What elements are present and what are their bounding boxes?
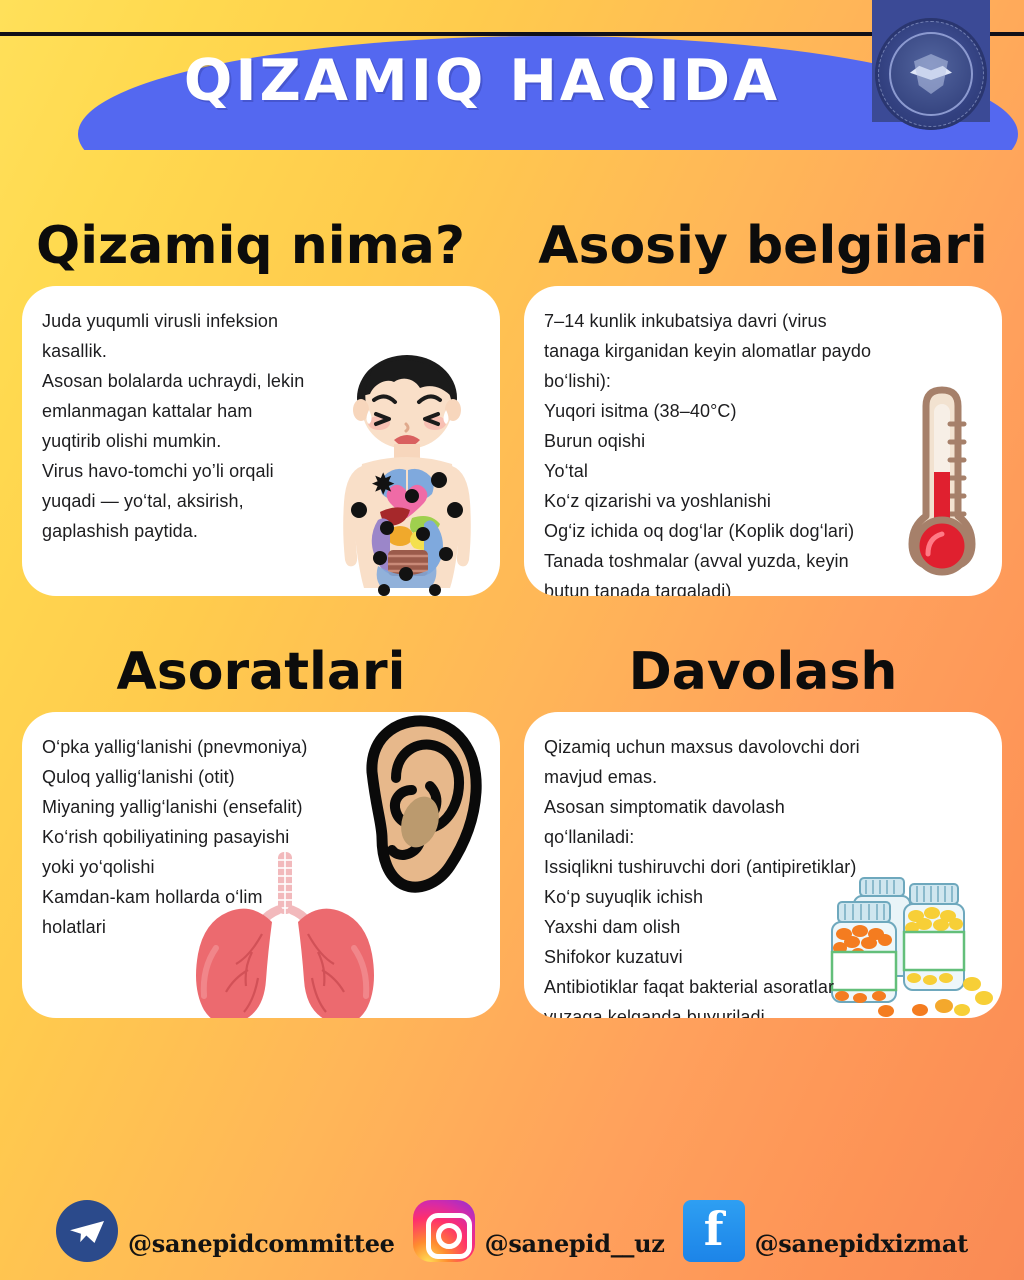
instagram-icon[interactable] [413,1200,475,1262]
card-text-main-symptoms: 7–14 kunlik inkubatsiya davri (virus tan… [544,306,924,596]
text-line: Shifokor kuzatuvi [544,942,929,972]
sick-child-with-organs-illustration [322,352,492,596]
text-line: Ko‘z qizarishi va yoshlanishi [544,486,924,516]
text-line: Burun oqishi [544,426,924,456]
social-instagram[interactable]: @sanepid__uz [413,1200,665,1262]
text-line: holatlari [42,912,352,942]
organization-emblem-icon [875,18,987,130]
text-line: Ko‘p suyuqlik ichish [544,882,929,912]
text-line: kasallik. [42,336,347,366]
emblem-shield-icon [914,54,948,94]
text-line: Qizamiq uchun maxsus davolovchi dori [544,732,929,762]
text-line: mavjud emas. [544,762,929,792]
card-complications: O‘pka yallig‘lanishi (pnevmoniya) Quloq … [22,712,500,1018]
text-line: yuzaga kelganda buyuriladi [544,1002,929,1018]
telegram-icon[interactable] [56,1200,118,1262]
facebook-handle[interactable]: @sanepidxizmat [755,1229,968,1262]
emblem-inner-circle [889,32,973,116]
card-text-treatment: Qizamiq uchun maxsus davolovchi dori mav… [544,732,929,1018]
card-text-complications: O‘pka yallig‘lanishi (pnevmoniya) Quloq … [42,732,352,942]
text-line: Juda yuqumli virusli infeksion [42,306,347,336]
social-telegram[interactable]: @sanepidcommittee [56,1200,395,1262]
text-line: gaplashish paytida. [42,516,347,546]
text-line: yuqtirib olishi mumkin. [42,426,347,456]
text-line: Antibiotiklar faqat bakterial asoratlar [544,972,929,1002]
text-line: Yaxshi dam olish [544,912,929,942]
section-complications: Asoratlari O‘pka yallig‘lanishi (pnevmon… [22,644,500,1018]
section-title-main-symptoms: Asosiy belgilari [524,218,1002,274]
text-line: tanaga kirganidan keyin alomatlar paydo [544,336,924,366]
section-title-treatment: Davolash [524,644,1002,700]
header-divider-line [0,32,1024,36]
text-line: emlanmagan kattalar ham [42,396,347,426]
section-title-what-is-measles: Qizamiq nima? [22,218,500,274]
card-treatment: Qizamiq uchun maxsus davolovchi dori mav… [524,712,1002,1018]
text-line: Tanada toshmalar (avval yuzda, keyin [544,546,924,576]
text-line: Virus havo-tomchi yo’li orqali [42,456,347,486]
text-line: Kamdan-kam hollarda o‘lim [42,882,352,912]
section-title-complications: Asoratlari [22,644,500,700]
text-line: Issiqlikni tushiruvchi dori (antipiretik… [544,852,929,882]
text-line: Quloq yallig‘lanishi (otit) [42,762,352,792]
content-row-top: Qizamiq nima? Juda yuqumli virusli infek… [0,218,1024,596]
text-line: Og‘iz ichida oq dog‘lar (Koplik dog‘lari… [544,516,924,546]
card-text-what-is-measles: Juda yuqumli virusli infeksion kasallik.… [42,306,347,546]
section-main-symptoms: Asosiy belgilari 7–14 kunlik inkubatsiya… [524,218,1002,596]
content-row-bottom: Asoratlari O‘pka yallig‘lanishi (pnevmon… [0,644,1024,1018]
card-what-is-measles: Juda yuqumli virusli infeksion kasallik.… [22,286,500,596]
facebook-icon[interactable] [683,1200,745,1262]
text-line: Yo‘tal [544,456,924,486]
social-facebook[interactable]: @sanepidxizmat [683,1200,968,1262]
text-line: yuqadi — yo‘tal, aksirish, [42,486,347,516]
text-line: yoki yo‘qolishi [42,852,352,882]
text-line: Asosan simptomatik davolash [544,792,929,822]
section-treatment: Davolash Qizamiq uchun maxsus davolovchi… [524,644,1002,1018]
page-header: QIZAMIQ HAQIDA [0,0,1024,150]
text-line: Miyaning yallig‘lanishi (ensefalit) [42,792,352,822]
text-line: O‘pka yallig‘lanishi (pnevmoniya) [42,732,352,762]
text-line: Yuqori isitma (38–40°C) [544,396,924,426]
card-main-symptoms: 7–14 kunlik inkubatsiya davri (virus tan… [524,286,1002,596]
social-footer: @sanepidcommittee @sanepid__uz @sanepidx… [0,1200,1024,1262]
telegram-handle[interactable]: @sanepidcommittee [128,1229,395,1262]
page-title: QIZAMIQ HAQIDA [0,48,1024,114]
text-line: 7–14 kunlik inkubatsiya davri (virus [544,306,924,336]
text-line: Asosan bolalarda uchraydi, lekin [42,366,347,396]
text-line: Ko‘rish qobiliyatining pasayishi [42,822,352,852]
text-line: butun tanada tarqaladi) [544,576,924,596]
text-line: qo‘llaniladi: [544,822,929,852]
content-grid: Qizamiq nima? Juda yuqumli virusli infek… [0,218,1024,1018]
text-line: bo‘lishi): [544,366,924,396]
section-what-is-measles: Qizamiq nima? Juda yuqumli virusli infek… [22,218,500,596]
instagram-handle[interactable]: @sanepid__uz [485,1229,665,1262]
